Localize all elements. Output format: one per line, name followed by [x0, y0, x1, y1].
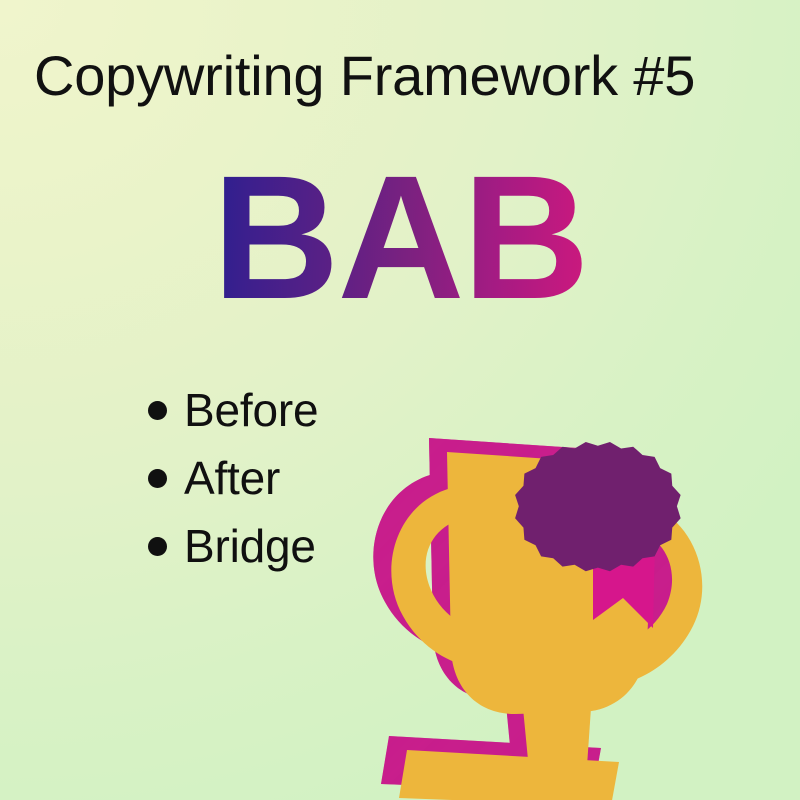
- list-item-label: Before: [184, 385, 318, 435]
- bullet-dot-icon: [148, 401, 167, 420]
- list-item: Bridge: [148, 512, 318, 580]
- trophy-icon: [355, 420, 755, 800]
- trophy-illustration: [355, 420, 755, 800]
- framework-acronym: BAB: [212, 150, 587, 326]
- list-item-label: Bridge: [184, 521, 316, 571]
- list-item-label: After: [184, 453, 280, 503]
- headline-container: BAB: [0, 150, 800, 326]
- list-item: Before: [148, 376, 318, 444]
- page-title: Copywriting Framework #5: [34, 44, 774, 108]
- bullet-dot-icon: [148, 537, 167, 556]
- framework-steps-list: Before After Bridge: [148, 376, 318, 580]
- poster-canvas: Copywriting Framework #5 BAB Before Afte…: [0, 0, 800, 800]
- bullet-dot-icon: [148, 469, 167, 488]
- list-item: After: [148, 444, 318, 512]
- award-rosette: [515, 442, 681, 571]
